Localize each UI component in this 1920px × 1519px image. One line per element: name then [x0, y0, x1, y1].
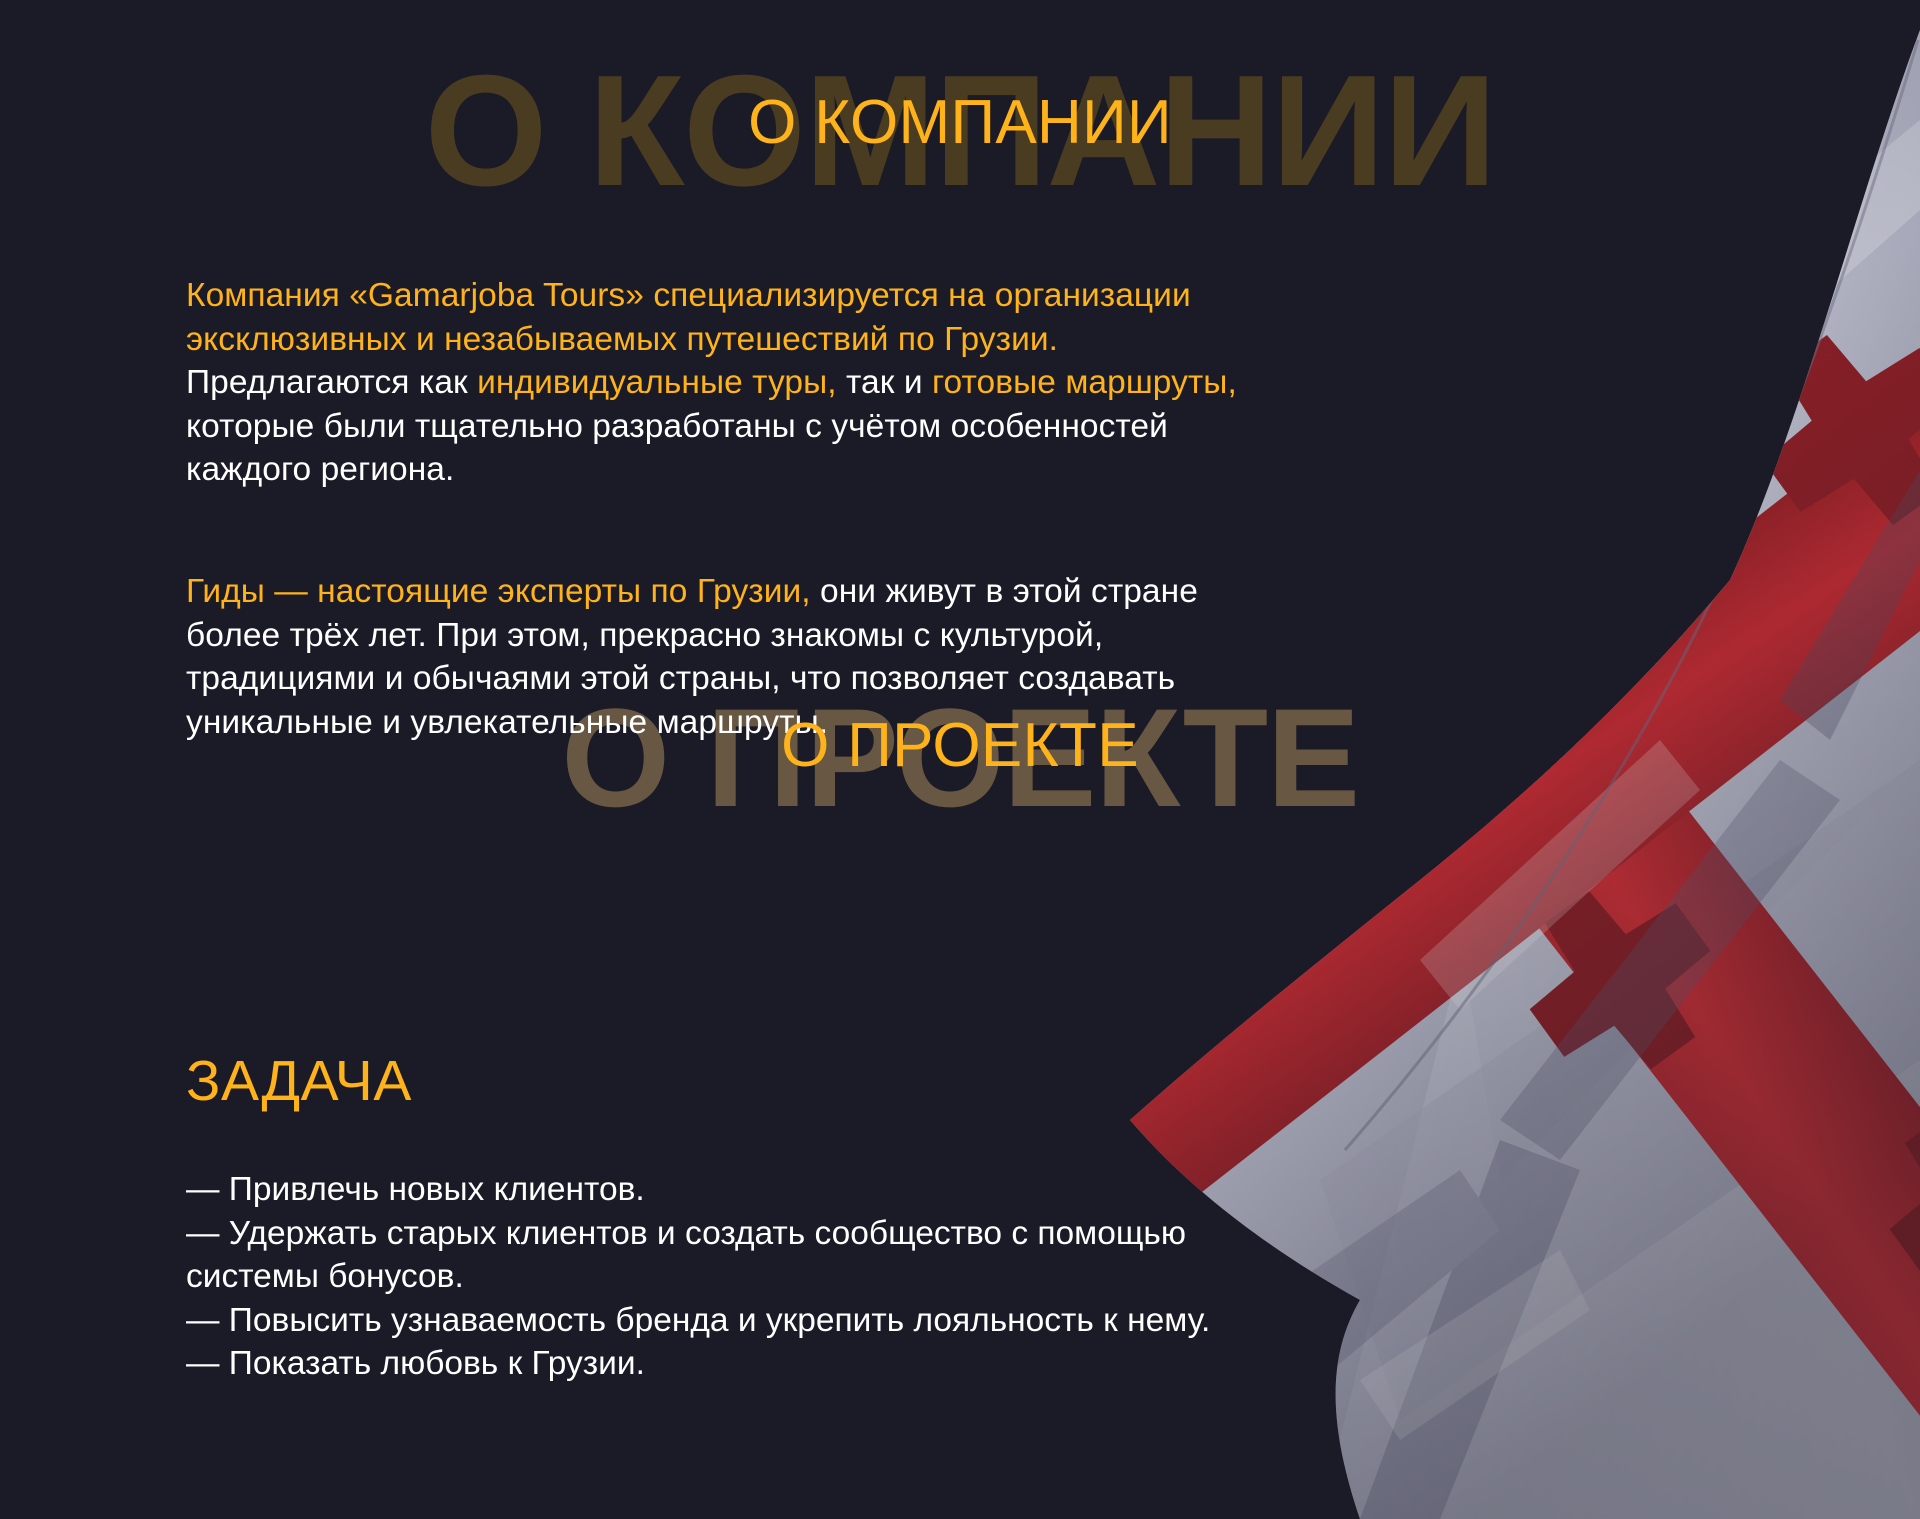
task-list-item: — Показать любовь к Грузии.: [186, 1342, 1296, 1386]
text-run-0: Гиды — настоящие эксперты по Грузии,: [186, 573, 811, 610]
text-run-2: индивидуальные туры,: [477, 364, 837, 401]
task-title: ЗАДАЧА: [186, 1053, 412, 1110]
text-run-5: которые были тщательно разработаны с учё…: [186, 408, 1168, 489]
task-list-item: — Удержать старых клиентов и создать соо…: [186, 1212, 1296, 1299]
company-paragraph-2: Гиды — настоящие эксперты по Грузии, они…: [186, 570, 1286, 744]
ghost-heading-company: О КОМПАНИИ: [0, 52, 1920, 210]
text-run-0: Компания «Gamarjoba Tours» специализируе…: [186, 277, 1191, 358]
slide-canvas: О КОМПАНИИ О ПРОЕКТЕ О КОМПАНИИ О ПРОЕКТ…: [0, 0, 1920, 1519]
heading-company: О КОМПАНИИ: [0, 92, 1920, 154]
text-run-3: так и: [837, 364, 932, 401]
text-run-1: Предлагаются как: [186, 364, 477, 401]
task-list-item: — Повысить узнаваемость бренда и укрепит…: [186, 1299, 1296, 1343]
task-list-item: — Привлечь новых клиентов.: [186, 1168, 1296, 1212]
text-run-4: готовые маршруты,: [932, 364, 1237, 401]
task-list: — Привлечь новых клиентов.— Удержать ста…: [186, 1168, 1296, 1386]
company-paragraph-1: Компания «Gamarjoba Tours» специализируе…: [186, 274, 1286, 492]
